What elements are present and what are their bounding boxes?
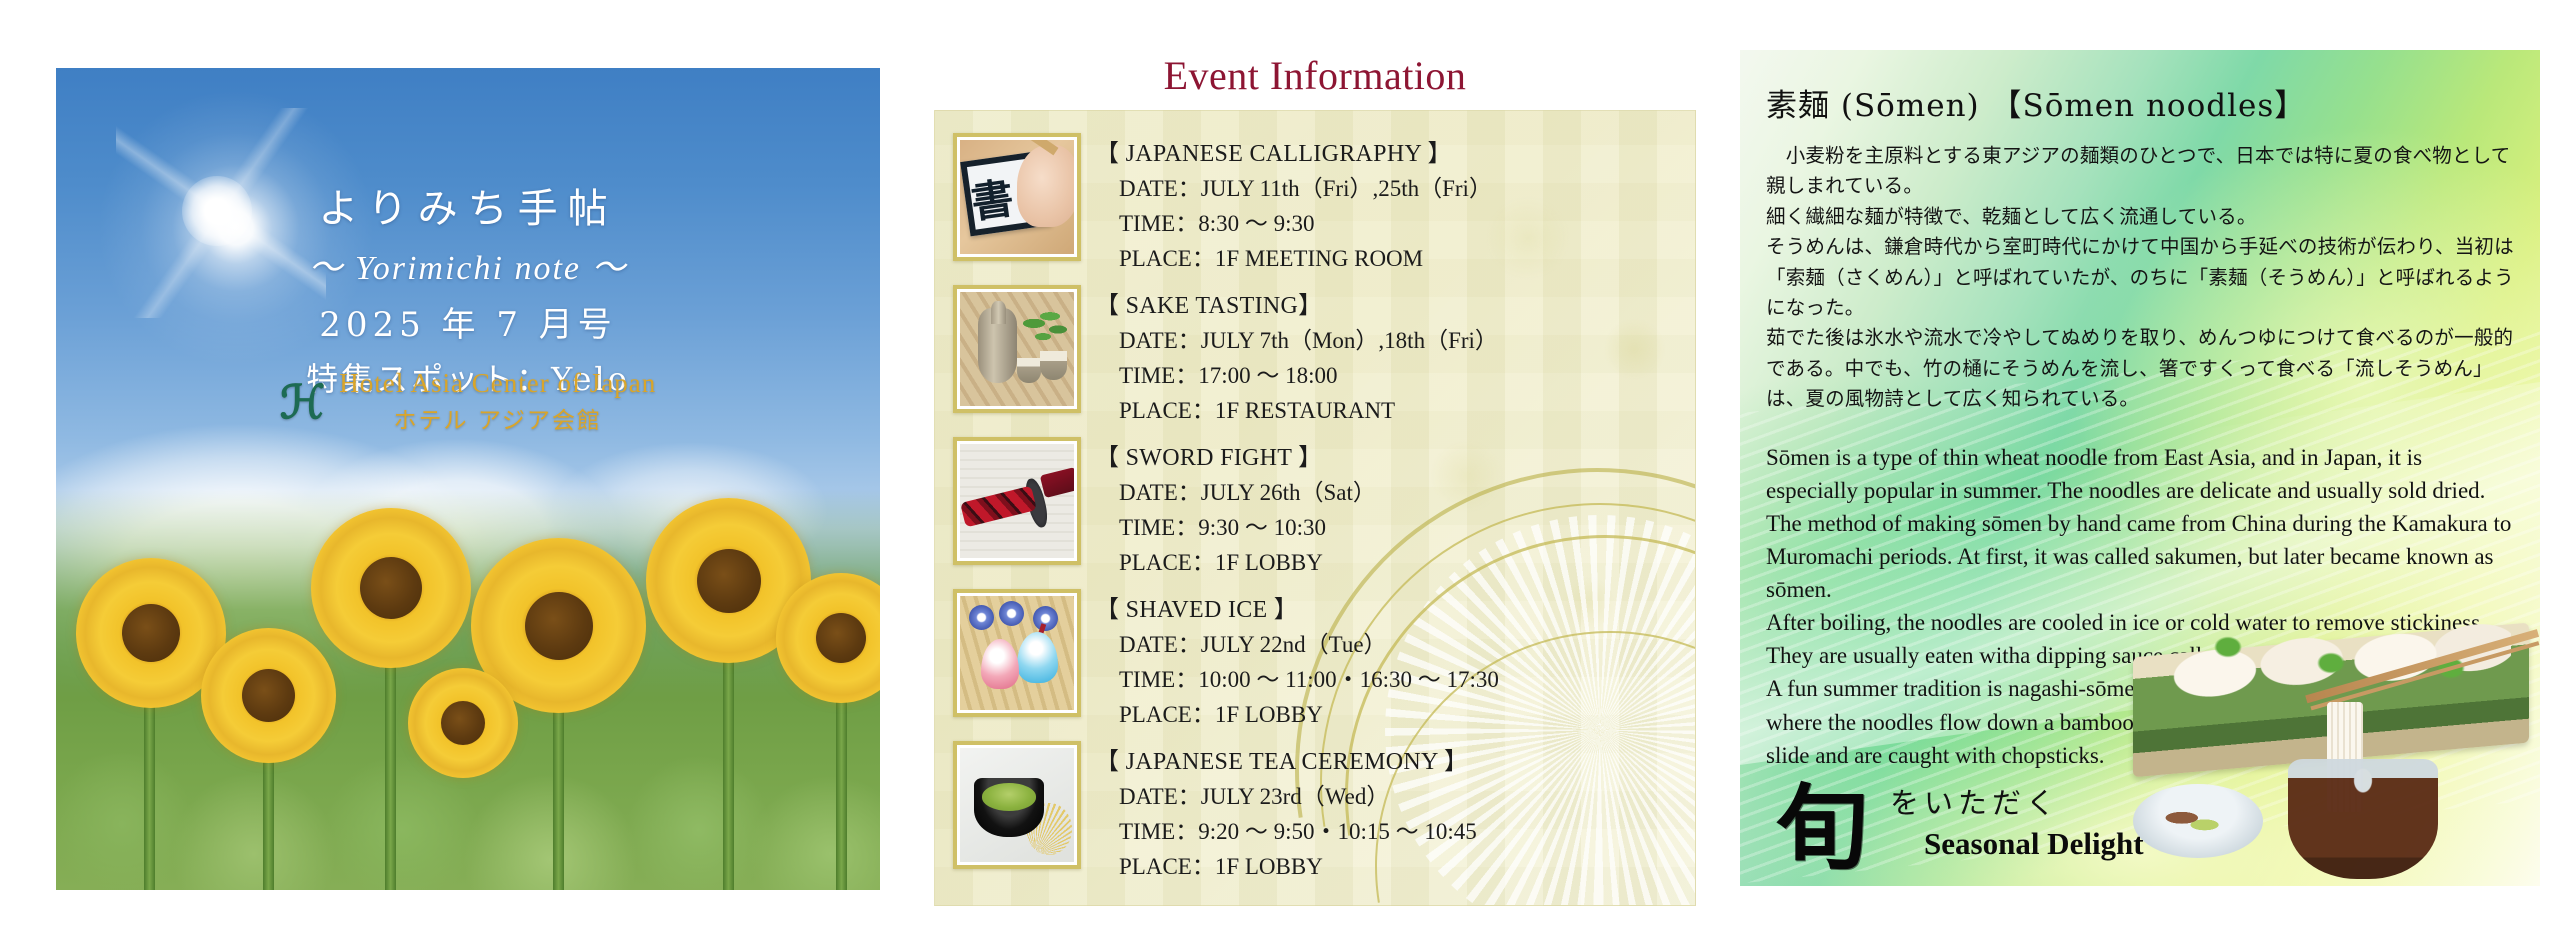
somen-dish-photo	[2116, 624, 2540, 884]
event-place: PLACE：1F LOBBY	[1119, 546, 1695, 581]
events-panel: Event Information 書 【 JAPANESE CALLIGRAP…	[920, 0, 1710, 931]
event-details: 【 JAPANESE CALLIGRAPHY 】 DATE：JULY 11th（…	[1089, 127, 1695, 277]
event-title: 【 SHAVED ICE 】	[1095, 589, 1695, 624]
event-item[interactable]: 【 SAKE TASTING】 DATE：JULY 7th（Mon）,18th（…	[935, 279, 1695, 431]
somen-title: 素麺 (Sōmen) 【Sōmen noodles】	[1766, 80, 2514, 125]
sunflower-stem	[144, 678, 155, 890]
cover-issue: 2025 年 7 月号	[56, 297, 880, 346]
shun-kanji-icon: 旬	[1776, 789, 1868, 868]
sunflower-7	[408, 668, 518, 778]
event-date: DATE：JULY 7th（Mon）,18th（Fri）	[1119, 324, 1695, 359]
shaved-ice-photo	[953, 589, 1081, 717]
sunflower-stem	[385, 638, 396, 890]
event-details: 【 SAKE TASTING】 DATE：JULY 7th（Mon）,18th（…	[1089, 279, 1695, 429]
hotel-logo-names: Hotel Asia Center of Japan ホテル アジア会館	[339, 368, 656, 435]
hotel-logo: ℋ Hotel Asia Center of Japan ホテル アジア会館	[56, 368, 880, 435]
event-date: DATE：JULY 26th（Sat）	[1119, 476, 1695, 511]
hotel-name-jp: ホテル アジア会館	[339, 401, 656, 435]
sword-photo	[953, 437, 1081, 565]
events-heading: Event Information	[920, 0, 1710, 99]
sunflower-center	[816, 613, 866, 663]
brand-subtitle-en: Seasonal Delight	[1924, 826, 2144, 862]
brand-subtitle: をいただく Seasonal Delight	[1882, 780, 2144, 868]
sunflower-stem	[723, 634, 734, 890]
event-title: 【 JAPANESE CALLIGRAPHY 】	[1095, 133, 1695, 168]
cover-title-romaji: 〜 Yorimichi note 〜	[56, 240, 880, 289]
event-details: 【 SWORD FIGHT 】 DATE：JULY 26th（Sat） TIME…	[1089, 431, 1695, 581]
event-item[interactable]: 書 【 JAPANESE CALLIGRAPHY 】 DATE：JULY 11t…	[935, 127, 1695, 279]
cover-title-jp: よりみち手帖	[56, 176, 880, 234]
event-time: TIME：9:30 〜 10:30	[1119, 511, 1695, 546]
sunflower-stem	[553, 683, 564, 890]
events-list: 書 【 JAPANESE CALLIGRAPHY 】 DATE：JULY 11t…	[935, 111, 1695, 887]
event-title: 【 SAKE TASTING】	[1095, 285, 1695, 320]
event-details: 【 JAPANESE TEA CEREMONY 】 DATE：JULY 23rd…	[1089, 735, 1695, 885]
event-date: DATE：JULY 22nd（Tue）	[1119, 628, 1695, 663]
event-details: 【 SHAVED ICE 】 DATE：JULY 22nd（Tue） TIME：…	[1089, 583, 1695, 733]
hotel-name-en: Hotel Asia Center of Japan	[339, 368, 656, 399]
brand-subtitle-jp: をいただく	[1890, 780, 2144, 822]
cover-panel: よりみち手帖 〜 Yorimichi note 〜 2025 年 7 月号 特集…	[56, 68, 880, 890]
calligraphy-photo: 書	[953, 133, 1081, 261]
newsletter-page: よりみち手帖 〜 Yorimichi note 〜 2025 年 7 月号 特集…	[0, 0, 2560, 931]
event-item[interactable]: 【 SHAVED ICE 】 DATE：JULY 22nd（Tue） TIME：…	[935, 583, 1695, 735]
sunflower-center	[441, 701, 485, 745]
sunflower-center	[122, 604, 180, 662]
event-item[interactable]: 【 JAPANESE TEA CEREMONY 】 DATE：JULY 23rd…	[935, 735, 1695, 887]
event-item[interactable]: 【 SWORD FIGHT 】 DATE：JULY 26th（Sat） TIME…	[935, 431, 1695, 583]
sunflower-center	[697, 549, 761, 613]
event-time: TIME：9:20 〜 9:50・10:15 〜 10:45	[1119, 815, 1695, 850]
event-time: TIME：17:00 〜 18:00	[1119, 359, 1695, 394]
event-place: PLACE：1F RESTAURANT	[1119, 394, 1695, 429]
sunflower-6	[776, 573, 880, 703]
event-place: PLACE：1F MEETING ROOM	[1119, 242, 1695, 277]
event-title: 【 SWORD FIGHT 】	[1095, 437, 1695, 472]
event-time: TIME：10:00 〜 11:00・16:30 〜 17:30	[1119, 663, 1695, 698]
sunflower-stem	[836, 681, 847, 890]
sunflower-center	[242, 669, 295, 722]
event-date: DATE：JULY 11th（Fri）,25th（Fri）	[1119, 172, 1695, 207]
event-title: 【 JAPANESE TEA CEREMONY 】	[1095, 741, 1695, 776]
sunflower-3	[311, 508, 471, 668]
seasonal-delight-brand: 旬 をいただく Seasonal Delight	[1776, 780, 2144, 868]
sake-photo	[953, 285, 1081, 413]
sunflower-center	[360, 557, 422, 619]
cover-title-block: よりみち手帖 〜 Yorimichi note 〜 2025 年 7 月号 特集…	[56, 176, 880, 400]
events-washi-card: 書 【 JAPANESE CALLIGRAPHY 】 DATE：JULY 11t…	[934, 110, 1696, 906]
event-time: TIME：8:30 〜 9:30	[1119, 207, 1695, 242]
event-place: PLACE：1F LOBBY	[1119, 850, 1695, 885]
tea-ceremony-photo	[953, 741, 1081, 869]
sunflower-center	[525, 592, 593, 660]
somen-panel: 素麺 (Sōmen) 【Sōmen noodles】 小麦粉を主原料とする東アジ…	[1740, 50, 2540, 886]
somen-japanese-text: 小麦粉を主原料とする東アジアの麺類のひとつで、日本では特に夏の食べ物として親しま…	[1766, 141, 2514, 415]
event-date: DATE：JULY 23rd（Wed）	[1119, 780, 1695, 815]
hotel-logo-mark-icon: ℋ	[280, 379, 325, 425]
event-place: PLACE：1F LOBBY	[1119, 698, 1695, 733]
